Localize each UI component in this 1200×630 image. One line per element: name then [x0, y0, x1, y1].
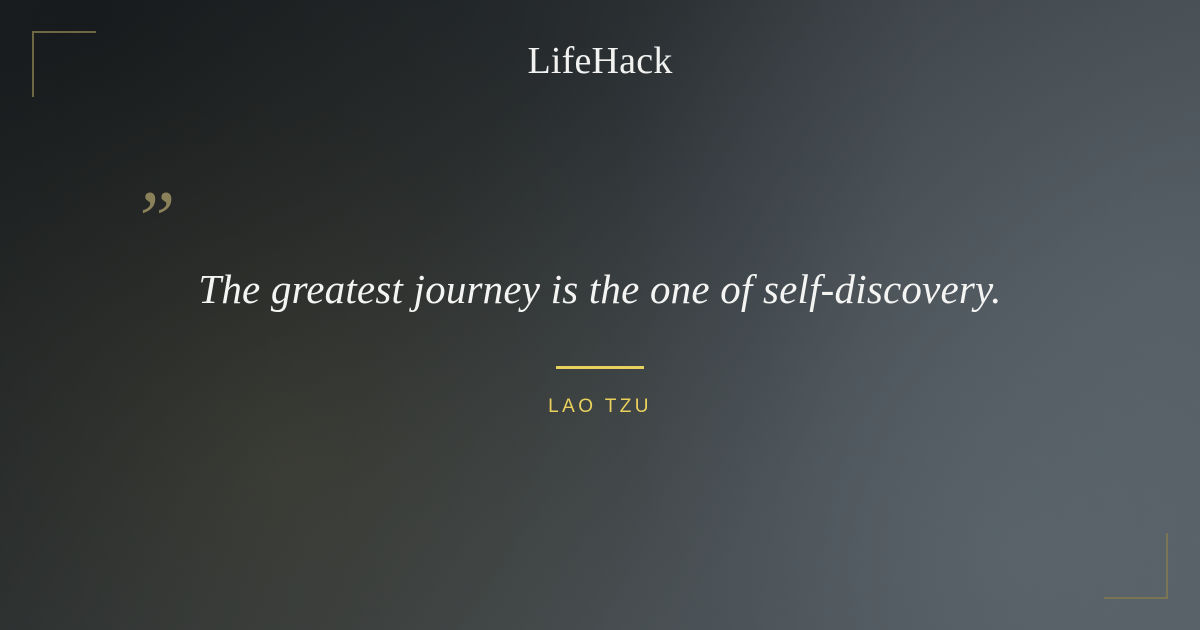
brand-logo: LifeHack [0, 38, 1200, 84]
quote-author: LAO TZU [0, 395, 1200, 419]
quote-block: The greatest journey is the one of self-… [0, 262, 1200, 419]
quote-card: LifeHack ” The greatest journey is the o… [0, 0, 1200, 630]
quotation-mark-icon: ” [131, 180, 176, 260]
quote-divider [556, 366, 644, 369]
quote-text: The greatest journey is the one of self-… [0, 262, 1200, 316]
corner-bracket-bottom-right-icon [1104, 533, 1168, 599]
